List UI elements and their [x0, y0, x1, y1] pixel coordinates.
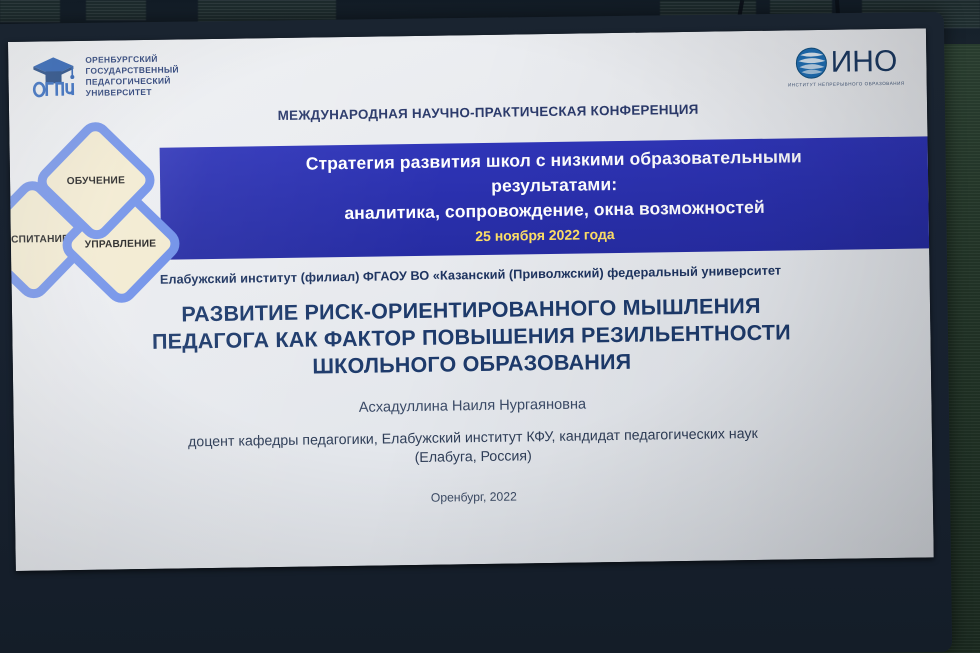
ogpu-logo: ОРЕНБУРГСКИЙ ГОСУДАРСТВЕННЫЙ ПЕДАГОГИЧЕС… [30, 53, 179, 100]
title-banner: Стратегия развития школ с низкими образо… [160, 136, 930, 259]
ino-subtitle: ИНСТИТУТ НЕПРЕРЫВНОГО ОБРАЗОВАНИЯ [788, 81, 905, 88]
author-affiliation: доцент кафедры педагогики, Елабужский ин… [14, 422, 932, 474]
ino-logo: ИНО ИНСТИТУТ НЕПРЕРЫВНОГО ОБРАЗОВАНИЯ [787, 45, 904, 88]
diamond-label: ОБУЧЕНИЕ [67, 175, 126, 187]
wall-light-patch [0, 0, 60, 22]
slide-main-title: РАЗВИТИЕ РИСК-ОРИЕНТИРОВАННОГО МЫШЛЕНИЯ … [42, 291, 901, 384]
place-and-year: Оренбург, 2022 [15, 483, 933, 511]
presentation-slide: ОРЕНБУРГСКИЙ ГОСУДАРСТВЕННЫЙ ПЕДАГОГИЧЕС… [8, 28, 934, 571]
diamond-cluster: ВОСПИТАНИЕ УПРАВЛЕНИЕ ОБУЧЕНИЕ [8, 135, 236, 289]
diamond-label: УПРАВЛЕНИЕ [85, 238, 157, 250]
screenshot-stage: ОРЕНБУРГСКИЙ ГОСУДАРСТВЕННЫЙ ПЕДАГОГИЧЕС… [0, 0, 980, 653]
author-name: Асхадуллина Наиля Нургаяновна [13, 391, 931, 421]
ogpu-logo-text: ОРЕНБУРГСКИЙ ГОСУДАРСТВЕННЫЙ ПЕДАГОГИЧЕС… [85, 53, 179, 99]
ogpu-logo-line: УНИВЕРСИТЕТ [86, 87, 180, 99]
wall-light-patch [86, 0, 146, 20]
diamond-label: ВОСПИТАНИЕ [8, 234, 70, 246]
globe-swoosh-icon [794, 46, 829, 81]
ogpu-logo-line: ПЕДАГОГИЧЕСКИЙ [86, 76, 180, 88]
wall-light-patch [198, 0, 336, 22]
ino-abbreviation: ИНО [831, 47, 898, 78]
monitor-screen: ОРЕНБУРГСКИЙ ГОСУДАРСТВЕННЫЙ ПЕДАГОГИЧЕС… [8, 28, 934, 571]
graduation-cap-monogram-icon [30, 55, 77, 100]
conference-kicker: МЕЖДУНАРОДНАЯ НАУЧНО-ПРАКТИЧЕСКАЯ КОНФЕР… [9, 98, 927, 127]
